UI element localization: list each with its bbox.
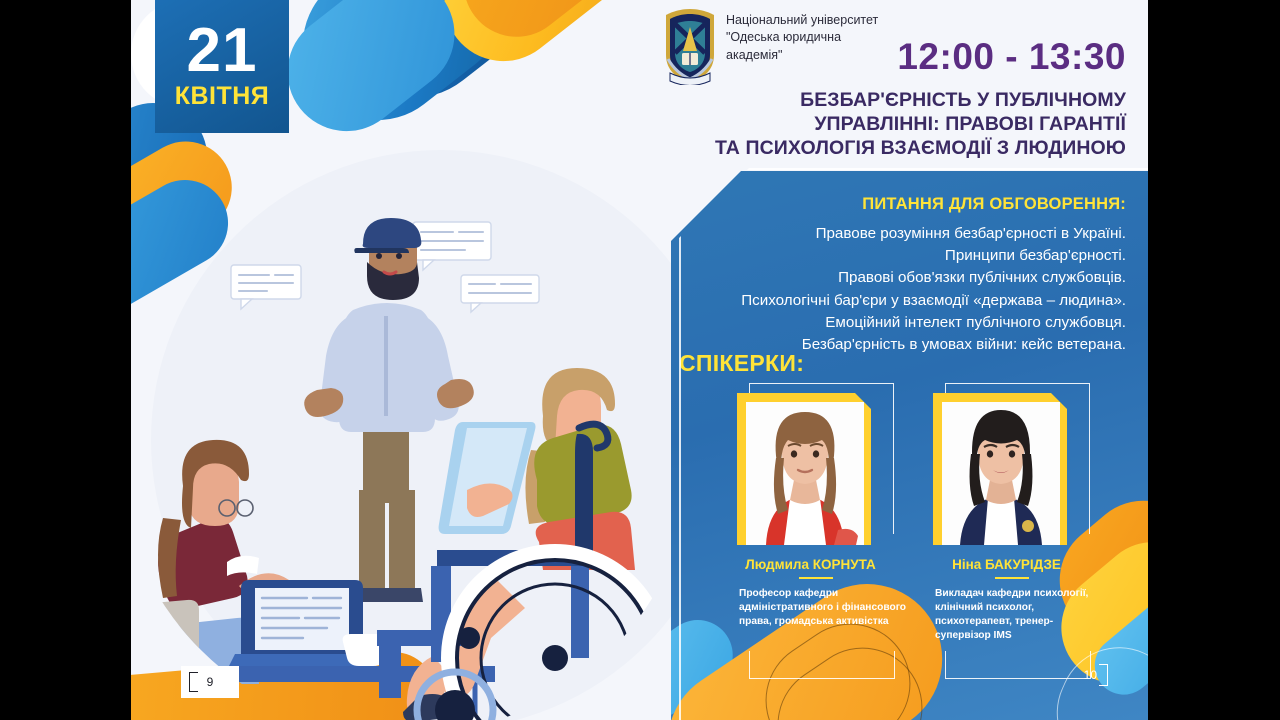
event-day: 21 bbox=[187, 22, 258, 79]
event-title-line1: БЕЗБАР'ЄРНІСТЬ У ПУБЛІЧНОМУ bbox=[656, 88, 1126, 112]
speaker-divider bbox=[799, 577, 833, 579]
question-item: Принципи безбар'єрності. bbox=[706, 245, 1126, 267]
event-title: БЕЗБАР'ЄРНІСТЬ У ПУБЛІЧНОМУ УПРАВЛІННІ: … bbox=[656, 88, 1126, 161]
content-panel: ПИТАННЯ ДЛЯ ОБГОВОРЕННЯ: Правове розумін… bbox=[671, 171, 1148, 720]
meeting-illustration bbox=[131, 190, 691, 720]
slide-viewer: 21 КВІТНЯ Національний університет "Одес… bbox=[0, 0, 1280, 720]
speaker-divider bbox=[995, 577, 1029, 579]
page-number-left: 9 bbox=[207, 675, 214, 689]
event-month: КВІТНЯ bbox=[175, 82, 270, 111]
speaker-card: Ніна БАКУРІДЗЕ Викладач кафедри психолог… bbox=[933, 383, 1090, 676]
speaker-name: Людмила КОРНУТА bbox=[737, 557, 884, 572]
event-time: 12:00 - 13:30 bbox=[897, 36, 1126, 78]
speaker-name: Ніна БАКУРІДЗЕ bbox=[933, 557, 1080, 572]
bracket-left-icon bbox=[189, 672, 198, 692]
speaker-photo bbox=[942, 402, 1060, 545]
speaker-photo-frame bbox=[933, 383, 1090, 548]
university-emblem-icon bbox=[660, 7, 720, 85]
questions-list: Правове розуміння безбар'єрності в Украї… bbox=[706, 223, 1126, 356]
page-marker-right: 10 bbox=[1084, 664, 1108, 686]
presentation-slide: 21 КВІТНЯ Національний університет "Одес… bbox=[131, 0, 1148, 720]
question-item: Емоційний інтелект публічного службовця. bbox=[706, 312, 1126, 334]
speaker-card: Людмила КОРНУТА Професор кафедри адмініс… bbox=[737, 383, 894, 676]
speaker-frame-tail bbox=[945, 651, 1091, 679]
speaker-photo bbox=[746, 402, 864, 545]
event-title-line3: ТА ПСИХОЛОГІЯ ВЗАЄМОДІЇ З ЛЮДИНОЮ bbox=[656, 136, 1126, 160]
page-number-right: 10 bbox=[1084, 668, 1097, 682]
event-date-badge: 21 КВІТНЯ bbox=[155, 0, 289, 133]
speaker-frame-tail bbox=[749, 651, 895, 679]
question-item: Правове розуміння безбар'єрності в Украї… bbox=[706, 223, 1126, 245]
question-item: Правові обов'язки публічних службовців. bbox=[706, 267, 1126, 289]
speaker-photo-frame bbox=[737, 383, 894, 548]
speaker-bio: Професор кафедри адміністративного і фін… bbox=[739, 587, 907, 629]
university-name-line1: Національний університет bbox=[726, 12, 956, 29]
question-item: Психологічні бар'єри у взаємодії «держав… bbox=[706, 290, 1126, 312]
letterbox-bar-left bbox=[0, 0, 131, 720]
bracket-right-icon bbox=[1099, 664, 1108, 686]
speakers-heading: СПІКЕРКИ: bbox=[679, 350, 804, 377]
letterbox-bar-right bbox=[1148, 0, 1280, 720]
speaker-bio: Викладач кафедри психології, клінічний п… bbox=[935, 587, 1103, 643]
page-marker-left: 9 bbox=[181, 666, 239, 698]
questions-heading: ПИТАННЯ ДЛЯ ОБГОВОРЕННЯ: bbox=[862, 195, 1126, 214]
event-title-line2: УПРАВЛІННІ: ПРАВОВІ ГАРАНТІЇ bbox=[656, 112, 1126, 136]
